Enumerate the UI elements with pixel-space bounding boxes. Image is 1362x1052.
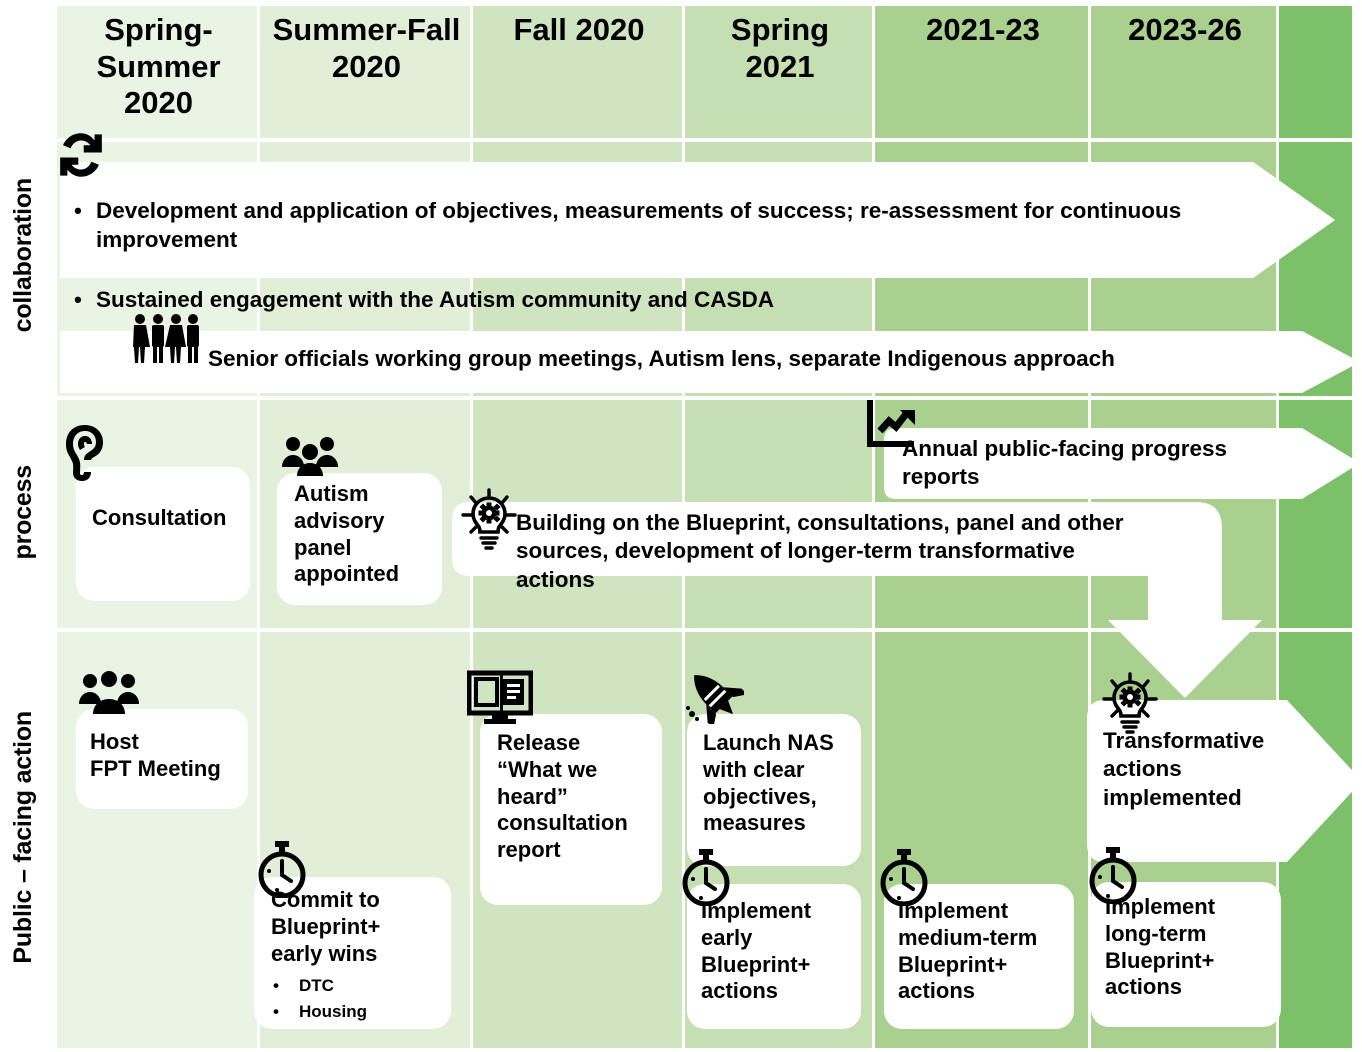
- public-implement-medium-text: Implement medium-term Blueprint+ actions: [898, 898, 1074, 1005]
- bullet-marker: •: [273, 973, 299, 999]
- four-people-icon: [130, 312, 202, 364]
- open-book-icon: [467, 669, 533, 725]
- public-release-report-box[interactable]: Release “What we heard” consultation rep…: [480, 714, 662, 905]
- commit-bullet-2-text: Housing: [299, 999, 443, 1025]
- stopwatch-icon-early: [680, 848, 732, 906]
- public-implement-early-text: Implement early Blueprint+ actions: [701, 898, 857, 1005]
- lane-label-collaboration: collaboration: [0, 120, 46, 390]
- collaboration-band-2: Senior officials working group meetings,…: [60, 331, 1360, 393]
- lane-label-collaboration-text: collaboration: [11, 178, 36, 332]
- bullet-marker: •: [273, 999, 299, 1025]
- process-consultation-text: Consultation: [92, 505, 242, 532]
- collaboration-bullet-1-text: Development and application of objective…: [96, 197, 1254, 255]
- public-commit-blueprint-box[interactable]: Commit to Blueprint+ early wins • DTC • …: [254, 877, 451, 1029]
- commit-bullet-1: • DTC: [273, 973, 443, 999]
- row-separator-collab: [57, 396, 1355, 400]
- column-header-5-label: 2021-23: [926, 12, 1040, 47]
- column-header-1: Spring- Summer 2020: [57, 12, 260, 122]
- ear-icon: [62, 424, 108, 482]
- public-transformative-text: Transformative actions implemented: [1103, 727, 1293, 812]
- collaboration-bullet-2: • Sustained engagement with the Autism c…: [74, 286, 1254, 315]
- people-group-icon: [78, 671, 140, 715]
- collaboration-band-1: • Development and application of objecti…: [60, 162, 1335, 278]
- lightbulb-gear-icon: [460, 488, 518, 550]
- public-host-fpt-box[interactable]: Host FPT Meeting: [76, 709, 248, 809]
- lane-label-public-facing-action-text: Public – facing action: [11, 711, 36, 964]
- bullet-marker: •: [74, 286, 96, 315]
- line-chart-icon: [866, 398, 928, 452]
- commit-bullet-2: • Housing: [273, 999, 443, 1025]
- lane-label-process-text: process: [11, 465, 36, 560]
- column-header-4-label: Spring 2021: [731, 12, 829, 84]
- process-advisory-panel-text: Autism advisory panel appointed: [294, 481, 434, 588]
- process-blueprint-text: Building on the Blueprint, consultations…: [516, 509, 1216, 594]
- column-header-6: 2023-26: [1091, 12, 1279, 49]
- process-progress-reports-text: Annual public-facing progress reports: [902, 435, 1302, 491]
- commit-bullet-1-text: DTC: [299, 973, 443, 999]
- column-header-3-label: Fall 2020: [514, 12, 645, 47]
- column-header-1-label: Spring- Summer 2020: [96, 12, 220, 120]
- refresh-cycle-icon: [52, 126, 110, 184]
- process-consultation-box[interactable]: Consultation: [76, 467, 250, 601]
- public-launch-nas-text: Launch NAS with clear objectives, measur…: [703, 730, 858, 837]
- stopwatch-icon-commit: [256, 840, 308, 898]
- column-header-3: Fall 2020: [473, 12, 685, 49]
- column-header-2-label: Summer-Fall 2020: [273, 12, 461, 84]
- lightbulb-gear-icon-transformative: [1101, 672, 1159, 734]
- stopwatch-icon-long: [1087, 846, 1139, 904]
- collaboration-bullet-2-text: Sustained engagement with the Autism com…: [96, 286, 1254, 315]
- public-implement-long-text: Implement long-term Blueprint+ actions: [1105, 894, 1281, 1001]
- column-header-5: 2021-23: [875, 12, 1091, 49]
- collaboration-bullet-1: • Development and application of objecti…: [74, 197, 1254, 255]
- stopwatch-icon-medium: [878, 848, 930, 906]
- column-header-6-label: 2023-26: [1128, 12, 1242, 47]
- collaboration-band-1-content: • Development and application of objecti…: [74, 168, 1254, 344]
- roadmap-diagram: Spring- Summer 2020 Summer-Fall 2020 Fal…: [0, 0, 1362, 1052]
- lane-label-public-facing-action: Public – facing action: [0, 632, 46, 1042]
- lane-label-process: process: [0, 398, 46, 626]
- public-commit-blueprint-text: Commit to Blueprint+ early wins: [271, 887, 447, 967]
- process-progress-reports-band: Annual public-facing progress reports: [884, 428, 1360, 499]
- column-header-4: Spring 2021: [685, 12, 875, 85]
- three-people-icon: [281, 435, 339, 477]
- column-header-2: Summer-Fall 2020: [260, 12, 473, 85]
- process-advisory-panel-box[interactable]: Autism advisory panel appointed: [277, 473, 442, 605]
- public-host-fpt-text: Host FPT Meeting: [90, 729, 240, 783]
- rocket-icon: [684, 666, 744, 724]
- public-release-report-text: Release “What we heard” consultation rep…: [497, 730, 657, 864]
- collaboration-band-2-text: Senior officials working group meetings,…: [208, 345, 1288, 372]
- public-launch-nas-box[interactable]: Launch NAS with clear objectives, measur…: [687, 714, 861, 866]
- row-separator-header: [57, 138, 1355, 142]
- public-commit-blueprint-bullets: • DTC • Housing: [273, 973, 443, 1026]
- bullet-marker: •: [74, 197, 96, 226]
